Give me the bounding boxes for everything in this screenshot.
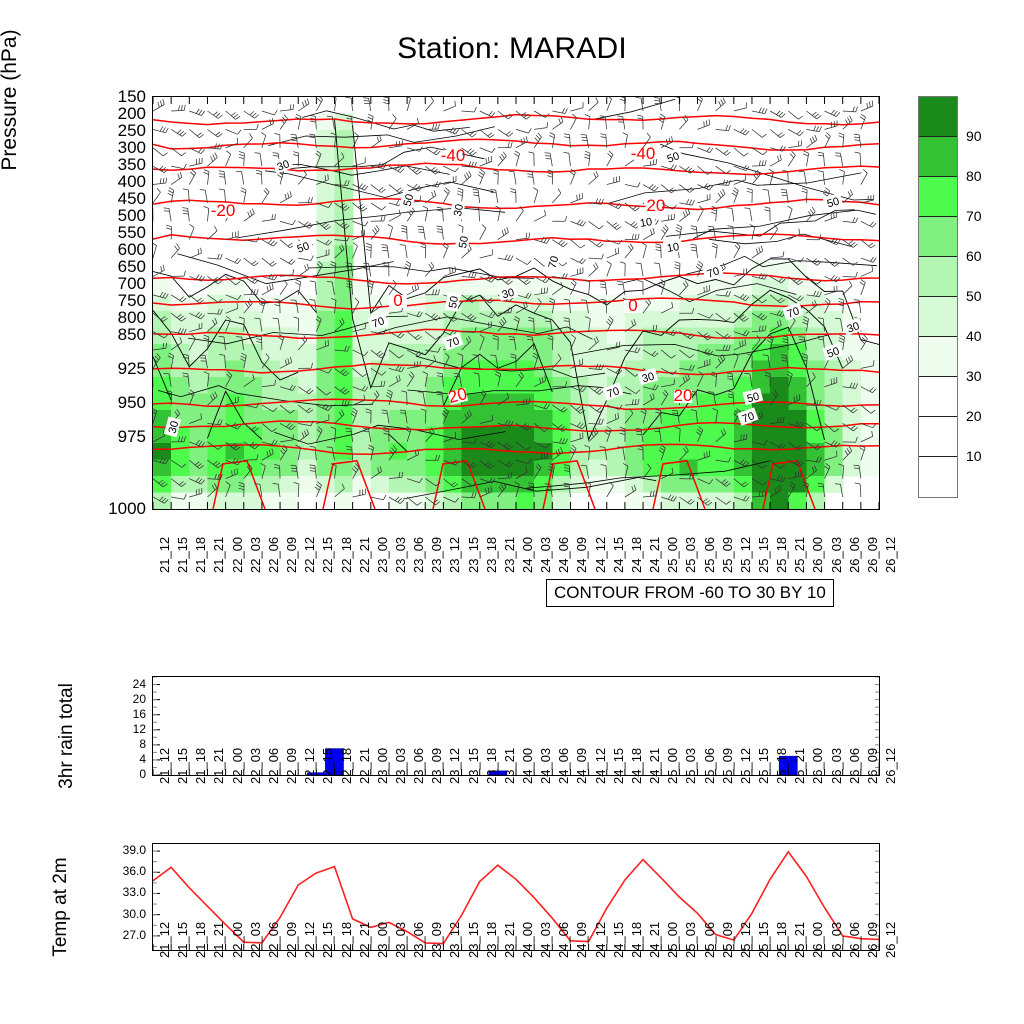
pressure-tick-600: 600 <box>6 241 146 258</box>
x-tick-23_18: 23_18 <box>484 537 499 573</box>
rain-tick-20: 20 <box>86 693 146 705</box>
x-tick-26_00: 26_00 <box>810 922 825 958</box>
svg-text:50: 50 <box>457 235 471 249</box>
x-tick-25_06: 25_06 <box>702 748 717 784</box>
pressure-tick-950: 950 <box>6 394 146 411</box>
x-tick-22_06: 22_06 <box>266 922 281 958</box>
x-tick-22_18: 22_18 <box>339 537 354 573</box>
x-tick-25_18: 25_18 <box>774 537 789 573</box>
pressure-tick-925: 925 <box>6 360 146 377</box>
x-tick-23_03: 23_03 <box>393 748 408 784</box>
x-tick-24_21: 24_21 <box>647 748 662 784</box>
colorbar-band-2 <box>919 177 957 217</box>
x-tick-22_12: 22_12 <box>302 922 317 958</box>
x-tick-25_15: 25_15 <box>756 748 771 784</box>
colorbar-band-7 <box>919 377 957 417</box>
x-tick-21_21: 21_21 <box>211 748 226 784</box>
colorbar-band-9 <box>919 457 957 497</box>
colorbar-label-40: 40 <box>966 329 982 343</box>
svg-text:-40: -40 <box>441 146 466 165</box>
x-tick-22_15: 22_15 <box>320 922 335 958</box>
x-tick-26_12: 26_12 <box>883 748 898 784</box>
x-tick-21_12: 21_12 <box>157 748 172 784</box>
x-tick-23_15: 23_15 <box>466 537 481 573</box>
x-tick-25_15: 25_15 <box>756 537 771 573</box>
rain-tick-12: 12 <box>86 723 146 735</box>
x-tick-22_18: 22_18 <box>339 748 354 784</box>
x-tick-24_18: 24_18 <box>629 537 644 573</box>
x-tick-22_12: 22_12 <box>302 748 317 784</box>
temp-tick-30.0: 30.0 <box>86 908 146 920</box>
x-tick-22_09: 22_09 <box>284 748 299 784</box>
pressure-tick-550: 550 <box>6 224 146 241</box>
x-tick-23_06: 23_06 <box>411 537 426 573</box>
x-tick-23_09: 23_09 <box>429 922 444 958</box>
x-tick-23_21: 23_21 <box>502 748 517 784</box>
svg-text:50: 50 <box>447 295 461 309</box>
x-tick-25_00: 25_00 <box>665 748 680 784</box>
x-tick-25_09: 25_09 <box>720 748 735 784</box>
pressure-tick-1000: 1000 <box>6 500 146 517</box>
svg-text:-20: -20 <box>641 196 666 215</box>
x-tick-25_00: 25_00 <box>665 922 680 958</box>
x-tick-26_06: 26_06 <box>847 922 862 958</box>
pressure-tick-975: 975 <box>6 428 146 445</box>
colorbar-label-30: 30 <box>966 369 982 383</box>
x-tick-25_09: 25_09 <box>720 922 735 958</box>
x-tick-22_06: 22_06 <box>266 537 281 573</box>
x-tick-23_09: 23_09 <box>429 537 444 573</box>
x-tick-24_12: 24_12 <box>593 748 608 784</box>
svg-text:0: 0 <box>393 291 402 310</box>
x-tick-22_03: 22_03 <box>248 537 263 573</box>
x-tick-24_15: 24_15 <box>611 922 626 958</box>
x-tick-23_03: 23_03 <box>393 537 408 573</box>
x-tick-21_18: 21_18 <box>193 748 208 784</box>
svg-text:-40: -40 <box>631 144 656 163</box>
x-tick-22_00: 22_00 <box>230 748 245 784</box>
x-tick-25_12: 25_12 <box>738 537 753 573</box>
x-tick-26_09: 26_09 <box>865 922 880 958</box>
x-tick-23_15: 23_15 <box>466 748 481 784</box>
colorbar-band-5 <box>919 297 957 337</box>
x-tick-24_12: 24_12 <box>593 922 608 958</box>
svg-text:0: 0 <box>628 296 637 315</box>
x-tick-23_00: 23_00 <box>375 922 390 958</box>
colorbar-band-6 <box>919 337 957 377</box>
x-tick-22_15: 22_15 <box>320 537 335 573</box>
colorbar-label-60: 60 <box>966 249 982 263</box>
x-tick-25_09: 25_09 <box>720 537 735 573</box>
x-tick-23_12: 23_12 <box>447 748 462 784</box>
x-tick-25_18: 25_18 <box>774 922 789 958</box>
rain-tick-0: 0 <box>86 768 146 780</box>
pressure-tick-200: 200 <box>6 105 146 122</box>
pressure-tick-650: 650 <box>6 258 146 275</box>
x-tick-21_12: 21_12 <box>157 922 172 958</box>
x-tick-22_03: 22_03 <box>248 748 263 784</box>
pressure-tick-850: 850 <box>6 326 146 343</box>
colorbar-label-90: 90 <box>966 129 982 143</box>
x-tick-22_09: 22_09 <box>284 922 299 958</box>
x-tick-21_21: 21_21 <box>211 922 226 958</box>
pressure-tick-450: 450 <box>6 190 146 207</box>
x-tick-25_21: 25_21 <box>792 922 807 958</box>
x-tick-26_03: 26_03 <box>829 748 844 784</box>
svg-text:10: 10 <box>666 241 680 255</box>
x-tick-22_06: 22_06 <box>266 748 281 784</box>
x-tick-23_03: 23_03 <box>393 922 408 958</box>
x-tick-26_06: 26_06 <box>847 537 862 573</box>
x-tick-24_06: 24_06 <box>556 537 571 573</box>
rain-tick-8: 8 <box>86 738 146 750</box>
x-tick-25_03: 25_03 <box>683 748 698 784</box>
pressure-tick-700: 700 <box>6 275 146 292</box>
pressure-axis-title: Pressure (hPa) <box>0 0 22 230</box>
pressure-tick-150: 150 <box>6 88 146 105</box>
x-tick-25_03: 25_03 <box>683 922 698 958</box>
x-tick-22_21: 22_21 <box>357 922 372 958</box>
colorbar-band-1 <box>919 137 957 177</box>
temp-tick-27.0: 27.0 <box>86 929 146 941</box>
x-tick-24_00: 24_00 <box>520 748 535 784</box>
x-tick-24_18: 24_18 <box>629 748 644 784</box>
x-tick-21_21: 21_21 <box>211 537 226 573</box>
x-tick-24_09: 24_09 <box>574 922 589 958</box>
x-tick-22_15: 22_15 <box>320 748 335 784</box>
x-tick-26_09: 26_09 <box>865 748 880 784</box>
x-tick-23_00: 23_00 <box>375 748 390 784</box>
rain-tick-24: 24 <box>86 678 146 690</box>
colorbar-band-4 <box>919 257 957 297</box>
pressure-tick-750: 750 <box>6 292 146 309</box>
colorbar[interactable] <box>918 96 958 498</box>
x-tick-26_00: 26_00 <box>810 537 825 573</box>
x-tick-23_21: 23_21 <box>502 922 517 958</box>
x-tick-24_09: 24_09 <box>574 537 589 573</box>
svg-text:30: 30 <box>452 203 466 217</box>
pressure-tick-500: 500 <box>6 207 146 224</box>
colorbar-label-20: 20 <box>966 409 982 423</box>
cross-section-svg: 3050303050505070707050507070505030303070… <box>153 97 879 509</box>
pressure-tick-350: 350 <box>6 156 146 173</box>
x-tick-26_03: 26_03 <box>829 922 844 958</box>
x-tick-22_09: 22_09 <box>284 537 299 573</box>
colorbar-label-50: 50 <box>966 289 982 303</box>
x-tick-24_18: 24_18 <box>629 922 644 958</box>
x-tick-23_00: 23_00 <box>375 537 390 573</box>
x-tick-25_06: 25_06 <box>702 922 717 958</box>
pressure-tick-800: 800 <box>6 309 146 326</box>
x-tick-24_09: 24_09 <box>574 748 589 784</box>
x-tick-26_12: 26_12 <box>883 922 898 958</box>
colorbar-label-80: 80 <box>966 169 982 183</box>
x-tick-22_03: 22_03 <box>248 922 263 958</box>
x-tick-25_12: 25_12 <box>738 748 753 784</box>
x-tick-24_12: 24_12 <box>593 537 608 573</box>
x-tick-23_12: 23_12 <box>447 922 462 958</box>
x-tick-24_15: 24_15 <box>611 748 626 784</box>
svg-text:20: 20 <box>674 386 693 405</box>
x-tick-26_03: 26_03 <box>829 537 844 573</box>
pressure-tick-250: 250 <box>6 122 146 139</box>
x-tick-23_18: 23_18 <box>484 922 499 958</box>
x-tick-21_18: 21_18 <box>193 922 208 958</box>
x-tick-22_21: 22_21 <box>357 748 372 784</box>
colorbar-band-3 <box>919 217 957 257</box>
x-tick-25_18: 25_18 <box>774 748 789 784</box>
rain-axis-title: 3hr rain total <box>56 661 78 811</box>
x-tick-26_12: 26_12 <box>883 537 898 573</box>
x-tick-26_00: 26_00 <box>810 748 825 784</box>
x-tick-23_15: 23_15 <box>466 922 481 958</box>
x-tick-22_12: 22_12 <box>302 537 317 573</box>
x-tick-23_06: 23_06 <box>411 922 426 958</box>
x-tick-21_15: 21_15 <box>175 748 190 784</box>
x-tick-25_06: 25_06 <box>702 537 717 573</box>
svg-text:-20: -20 <box>211 201 236 220</box>
x-tick-24_00: 24_00 <box>520 537 535 573</box>
x-tick-22_18: 22_18 <box>339 922 354 958</box>
temp-tick-36.0: 36.0 <box>86 865 146 877</box>
x-tick-24_15: 24_15 <box>611 537 626 573</box>
colorbar-band-0 <box>919 97 957 137</box>
x-tick-24_00: 24_00 <box>520 922 535 958</box>
x-tick-23_18: 23_18 <box>484 748 499 784</box>
x-tick-23_09: 23_09 <box>429 748 444 784</box>
x-tick-21_15: 21_15 <box>175 922 190 958</box>
x-tick-23_21: 23_21 <box>502 537 517 573</box>
temp-tick-39.0: 39.0 <box>86 844 146 856</box>
temp-tick-33.0: 33.0 <box>86 886 146 898</box>
x-tick-24_03: 24_03 <box>538 748 553 784</box>
rain-tick-16: 16 <box>86 708 146 720</box>
pressure-tick-400: 400 <box>6 173 146 190</box>
x-tick-26_09: 26_09 <box>865 537 880 573</box>
x-tick-25_15: 25_15 <box>756 922 771 958</box>
x-tick-24_06: 24_06 <box>556 748 571 784</box>
x-tick-24_06: 24_06 <box>556 922 571 958</box>
x-tick-24_03: 24_03 <box>538 922 553 958</box>
x-tick-25_03: 25_03 <box>683 537 698 573</box>
temperature-axis-title: Temp at 2m <box>50 822 72 992</box>
rain-tick-4: 4 <box>86 753 146 765</box>
x-tick-24_21: 24_21 <box>647 922 662 958</box>
x-tick-25_21: 25_21 <box>792 748 807 784</box>
x-tick-23_06: 23_06 <box>411 748 426 784</box>
pressure-tick-300: 300 <box>6 139 146 156</box>
x-tick-25_12: 25_12 <box>738 922 753 958</box>
svg-text:10: 10 <box>639 216 653 230</box>
x-tick-23_12: 23_12 <box>447 537 462 573</box>
x-tick-21_12: 21_12 <box>157 537 172 573</box>
cross-section-plot[interactable]: 3050303050505070707050507070505030303070… <box>152 96 880 510</box>
x-tick-22_00: 22_00 <box>230 537 245 573</box>
contour-caption: CONTOUR FROM -60 TO 30 BY 10 <box>546 579 834 607</box>
x-tick-22_21: 22_21 <box>357 537 372 573</box>
x-tick-24_03: 24_03 <box>538 537 553 573</box>
x-tick-25_21: 25_21 <box>792 537 807 573</box>
x-tick-21_18: 21_18 <box>193 537 208 573</box>
colorbar-band-8 <box>919 417 957 457</box>
x-tick-22_00: 22_00 <box>230 922 245 958</box>
x-tick-21_15: 21_15 <box>175 537 190 573</box>
page-title: Station: MARADI <box>0 32 1024 66</box>
x-tick-25_00: 25_00 <box>665 537 680 573</box>
colorbar-label-70: 70 <box>966 209 982 223</box>
colorbar-label-10: 10 <box>966 449 982 463</box>
x-tick-26_06: 26_06 <box>847 748 862 784</box>
x-tick-24_21: 24_21 <box>647 537 662 573</box>
